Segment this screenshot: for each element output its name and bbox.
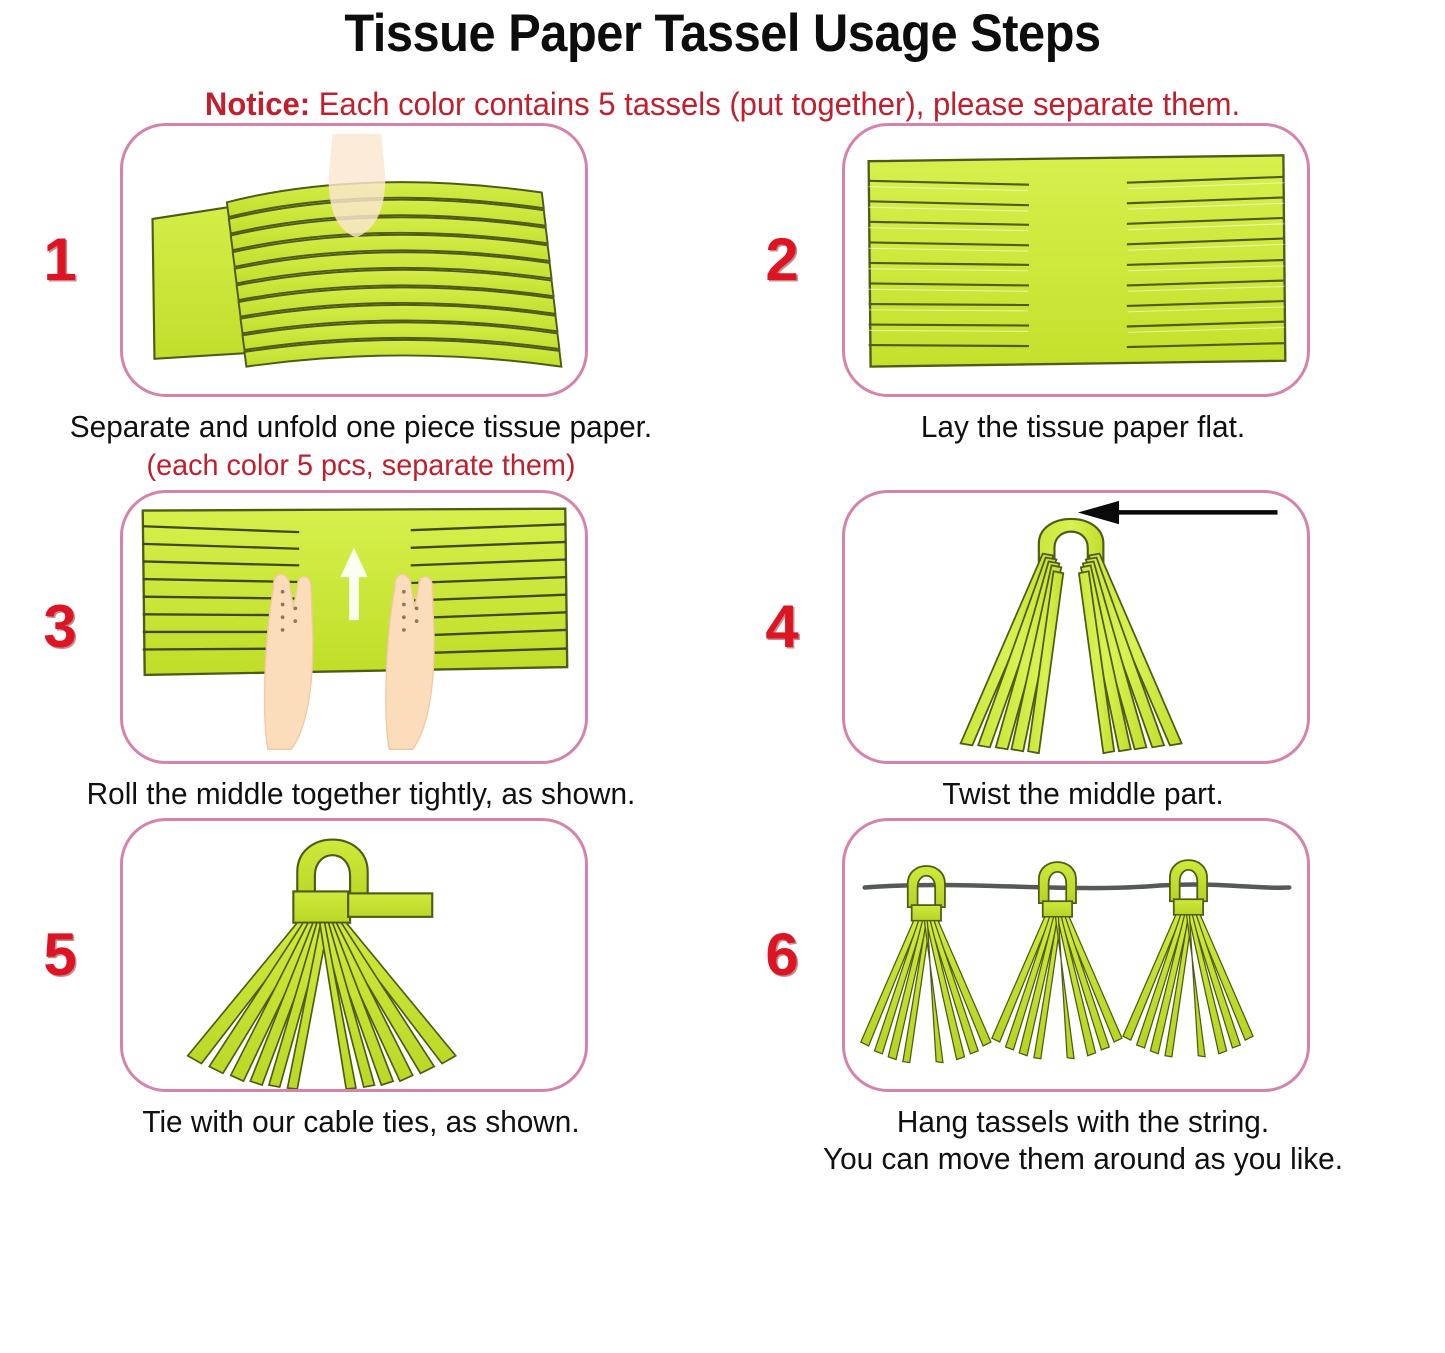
- step-body-1: 1: [0, 123, 722, 397]
- arrow-left-icon: [1078, 501, 1278, 524]
- step-number-6: 6: [722, 925, 842, 985]
- step-caption-sub-1: (each color 5 pcs, separate them): [14, 445, 707, 484]
- step-panel-2: [842, 123, 1310, 397]
- step-cell-2: 2: [722, 123, 1444, 484]
- fringed-tissue-unfolding-icon: [123, 126, 585, 394]
- step-caption-block-5: Tie with our cable ties, as shown.: [0, 1092, 722, 1141]
- step-caption-block-6: Hang tassels with the string. You can mo…: [722, 1092, 1444, 1177]
- tied-tassel-cable-tie-icon: [123, 821, 585, 1089]
- step-caption-6: Hang tassels with the string.: [736, 1092, 1429, 1141]
- step-number-1: 1: [0, 230, 120, 290]
- notice-banner: Notice: Each color contains 5 tassels (p…: [22, 62, 1424, 123]
- twisted-tassel-arrow-icon: [845, 493, 1307, 761]
- step-number-5: 5: [0, 925, 120, 985]
- step-panel-4: [842, 490, 1310, 764]
- notice-label: Notice:: [205, 86, 310, 122]
- step-number-3: 3: [0, 597, 120, 657]
- steps-grid: 1: [0, 123, 1445, 1178]
- step-panel-3: [120, 490, 588, 764]
- step-caption-block-4: Twist the middle part.: [722, 764, 1444, 813]
- step-caption-2: Lay the tissue paper flat.: [736, 397, 1429, 446]
- page-title: Tissue Paper Tassel Usage Steps: [58, 0, 1387, 62]
- step-caption-block-1: Separate and unfold one piece tissue pap…: [0, 397, 722, 484]
- step-body-6: 6: [722, 818, 1444, 1092]
- step-number-4: 4: [722, 597, 842, 657]
- step-cell-6: 6: [722, 818, 1444, 1177]
- step-panel-5: [120, 818, 588, 1092]
- step-panel-6: [842, 818, 1310, 1092]
- step-row: 5: [0, 818, 1445, 1177]
- step-cell-4: 4: [722, 490, 1444, 813]
- step-number-2: 2: [722, 230, 842, 290]
- step-caption-4: Twist the middle part.: [736, 764, 1429, 813]
- notice-text: Each color contains 5 tassels (put toget…: [310, 86, 1240, 122]
- step-cell-5: 5: [0, 818, 722, 1177]
- step-cell-1: 1: [0, 123, 722, 484]
- step-caption-5: Tie with our cable ties, as shown.: [14, 1092, 707, 1141]
- step-body-4: 4: [722, 490, 1444, 764]
- step-row: 1: [0, 123, 1445, 484]
- step-body-2: 2: [722, 123, 1444, 397]
- step-caption-3: Roll the middle together tightly, as sho…: [14, 764, 707, 813]
- step-caption-6-line2: You can move them around as you like.: [736, 1141, 1429, 1178]
- tassels-hanging-string-icon: [845, 821, 1307, 1089]
- step-panel-1: [120, 123, 588, 397]
- step-body-3: 3: [0, 490, 722, 764]
- step-caption-block-3: Roll the middle together tightly, as sho…: [0, 764, 722, 813]
- step-cell-3: 3: [0, 490, 722, 813]
- step-body-5: 5: [0, 818, 722, 1092]
- step-caption-block-2: Lay the tissue paper flat.: [722, 397, 1444, 446]
- flat-fringed-tissue-icon: [845, 126, 1307, 394]
- step-caption-1: Separate and unfold one piece tissue pap…: [14, 397, 707, 446]
- step-row: 3: [0, 490, 1445, 813]
- hands-rolling-middle-icon: [123, 493, 585, 761]
